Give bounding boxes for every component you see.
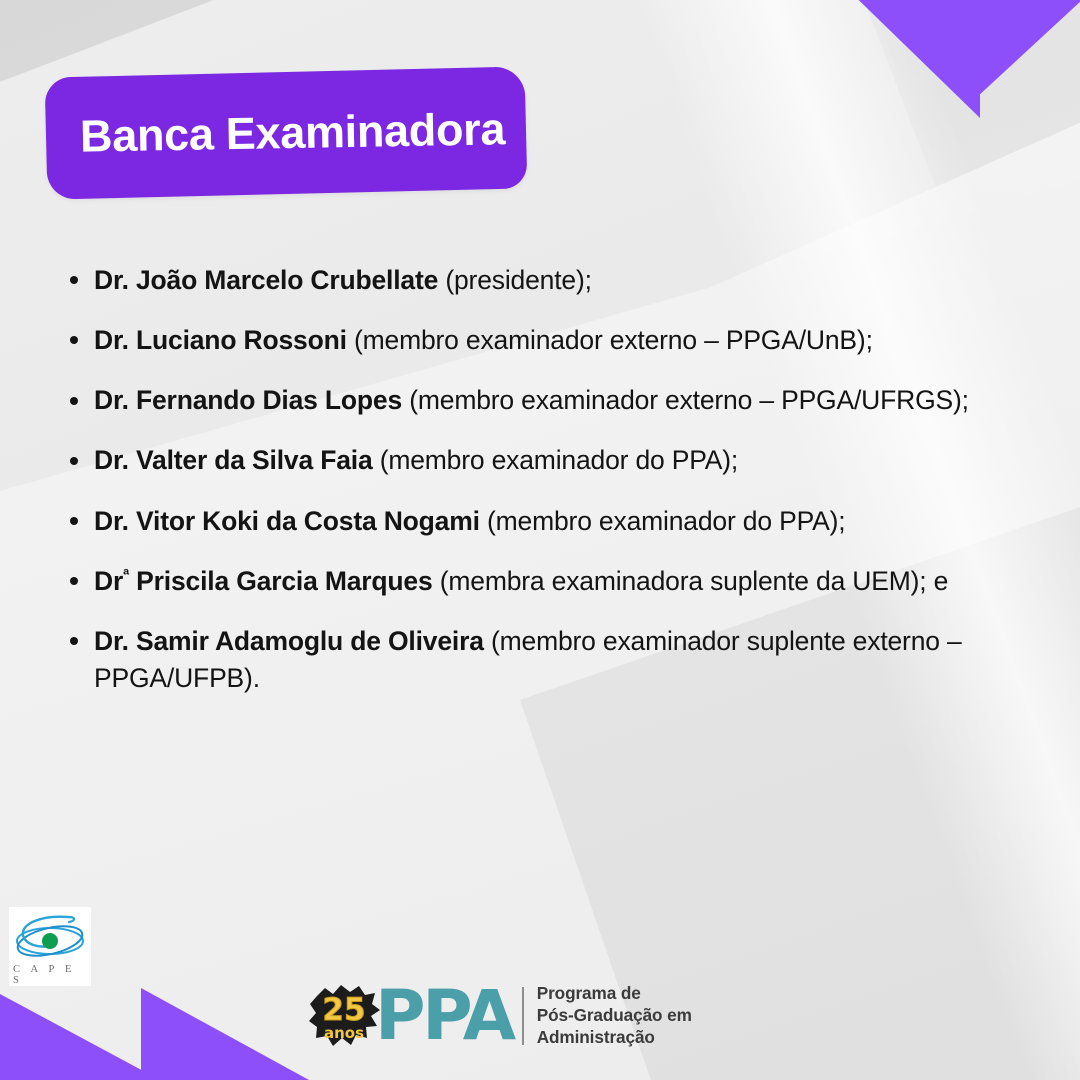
- svg-text:25: 25: [322, 992, 365, 1028]
- member-name: Dr. Vitor Koki da Costa Nogami: [94, 506, 480, 536]
- bullet-icon: [70, 517, 78, 525]
- member-role: (membro examinador do PPA);: [487, 506, 845, 536]
- list-item: Drª Priscila Garcia Marques (membra exam…: [66, 563, 1056, 601]
- bullet-icon: [70, 457, 78, 465]
- anniversary-badge-icon: 25 anos: [307, 980, 383, 1052]
- ppa-subtitle-line-1: Programa de: [537, 983, 692, 1005]
- ordinal-superscript: ª: [123, 566, 129, 584]
- bullet-icon: [70, 276, 78, 284]
- capes-wordmark: C A P E S: [9, 964, 91, 986]
- capes-logo: C A P E S: [9, 907, 91, 986]
- bullet-icon: [70, 637, 78, 645]
- list-item: Dr. Samir Adamoglu de Oliveira (membro e…: [66, 623, 1056, 698]
- member-role: (membra examinadora suplente da UEM); e: [440, 566, 949, 596]
- member-role: (presidente);: [445, 265, 591, 295]
- title-banner: Banca Examinadora: [45, 66, 528, 199]
- examining-committee-list: Dr. João Marcelo Crubellate (presidente)…: [66, 262, 1056, 721]
- list-item: Dr. Vitor Koki da Costa Nogami (membro e…: [66, 503, 1056, 541]
- ppa-subtitle-line-2: Pós-Graduação em: [537, 1005, 692, 1027]
- member-name: Dr. Valter da Silva Faia: [94, 445, 373, 475]
- list-item: Dr. Fernando Dias Lopes (membro examinad…: [66, 382, 1056, 420]
- bullet-icon: [70, 397, 78, 405]
- member-name: Dr. Luciano Rossoni: [94, 325, 347, 355]
- list-item: Dr. João Marcelo Crubellate (presidente)…: [66, 262, 1056, 300]
- ppa-acronym: PPA: [375, 988, 513, 1045]
- member-name: Drª Priscila Garcia Marques: [94, 566, 433, 596]
- member-role: (membro examinador do PPA);: [380, 445, 738, 475]
- ppa-subtitle: Programa de Pós-Graduação em Administraç…: [537, 983, 692, 1049]
- capes-orbit-icon: [13, 911, 87, 963]
- list-item: Dr. Luciano Rossoni (membro examinador e…: [66, 322, 1056, 360]
- member-role: (membro examinador externo – PPGA/UnB);: [354, 325, 873, 355]
- member-name: Dr. João Marcelo Crubellate: [94, 265, 438, 295]
- ppa-divider: [522, 987, 524, 1045]
- svg-text:anos: anos: [324, 1024, 364, 1042]
- slide-canvas: Banca Examinadora Dr. João Marcelo Crube…: [0, 0, 1080, 1080]
- ppa-logo: 25 anos PPA Programa de Pós-Graduação em…: [307, 978, 692, 1054]
- member-name: Dr. Samir Adamoglu de Oliveira: [94, 626, 484, 656]
- bullet-icon: [70, 336, 78, 344]
- list-item: Dr. Valter da Silva Faia (membro examina…: [66, 442, 1056, 480]
- ppa-subtitle-line-3: Administração: [537, 1027, 692, 1049]
- page-title: Banca Examinadora: [46, 103, 506, 163]
- bullet-icon: [70, 577, 78, 585]
- member-name: Dr. Fernando Dias Lopes: [94, 385, 402, 415]
- member-role: (membro examinador externo – PPGA/UFRGS)…: [409, 385, 969, 415]
